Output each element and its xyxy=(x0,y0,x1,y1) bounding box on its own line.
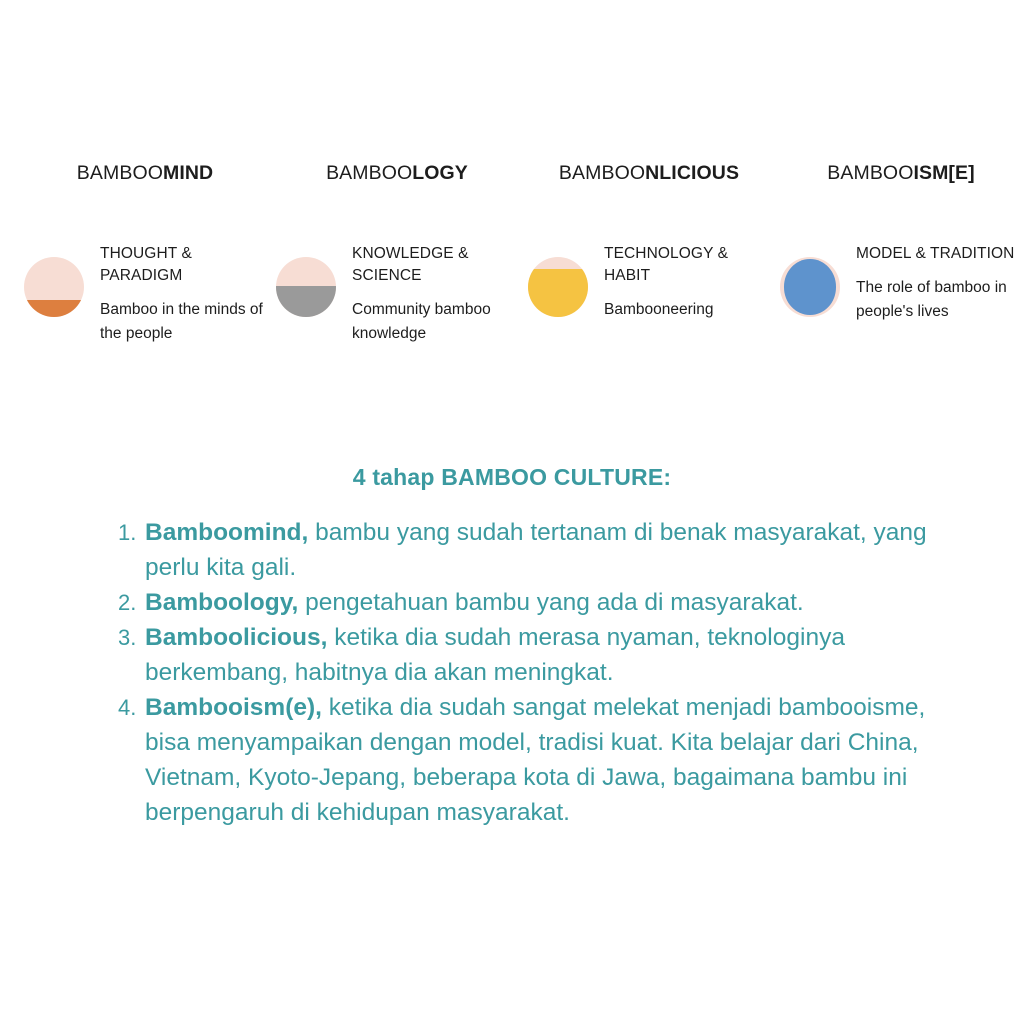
list-item: 3.Bamboolicious, ketika dia sudah merasa… xyxy=(118,620,938,690)
stage-text-bamboomind: THOUGHT & PARADIGM Bamboo in the minds o… xyxy=(100,243,268,345)
stage-title-prefix: BAMBOO xyxy=(326,162,412,184)
stage-body-bamboomind: THOUGHT & PARADIGM Bamboo in the minds o… xyxy=(24,243,274,345)
dial-fill-icon xyxy=(24,257,84,317)
stage-heading: KNOWLEDGE & SCIENCE xyxy=(352,243,520,287)
dial-fill-icon xyxy=(780,257,840,317)
list-item-term: Bamboomind, xyxy=(145,519,308,546)
list-item: 2.Bamboology, pengetahuan bambu yang ada… xyxy=(118,585,938,620)
stage-text-bamboonlicious: TECHNOLOGY & HABIT Bambooneering xyxy=(604,243,772,322)
list-item-term: Bamboolicious, xyxy=(145,624,327,651)
stage-body-bamboology: KNOWLEDGE & SCIENCE Community bamboo kno… xyxy=(276,243,526,345)
dial-fill-icon xyxy=(276,257,336,317)
stage-column-bamboology: BAMBOOLOGY KNOWLEDGE & SCIENCE Community… xyxy=(276,160,526,186)
stage-text-bamboology: KNOWLEDGE & SCIENCE Community bamboo kno… xyxy=(352,243,520,345)
stage-title-suffix: ISM[E] xyxy=(913,162,974,184)
dial-fill-level xyxy=(528,269,588,317)
stage-column-bamboonlicious: BAMBOONLICIOUS TECHNOLOGY & HABIT Bamboo… xyxy=(528,160,778,186)
dial-fill-level xyxy=(784,259,836,314)
stage-text-bambooisme: MODEL & TRADITION The role of bamboo in … xyxy=(856,243,1024,323)
stage-title-bambooisme: BAMBOOISM[E] xyxy=(772,160,1024,186)
list-marker: 2. xyxy=(118,585,142,620)
stage-title-suffix: LOGY xyxy=(412,162,468,184)
bamboo-culture-section: 4 tahap BAMBOO CULTURE: 1.Bamboomind, ba… xyxy=(0,462,1024,830)
stage-description: Bambooneering xyxy=(604,298,772,322)
culture-heading: 4 tahap BAMBOO CULTURE: xyxy=(0,462,1024,492)
stage-title-bamboomind: BAMBOOMIND xyxy=(16,160,274,186)
stage-title-bamboology: BAMBOOLOGY xyxy=(268,160,526,186)
list-marker: 4. xyxy=(118,690,142,725)
dial-fill-icon xyxy=(528,257,588,317)
list-item: 4.Bambooism(e), ketika dia sudah sangat … xyxy=(118,690,938,830)
stage-heading: TECHNOLOGY & HABIT xyxy=(604,243,772,287)
stage-title-prefix: BAMBOO xyxy=(559,162,645,184)
stage-title-prefix: BAMBOO xyxy=(827,162,913,184)
stage-body-bamboonlicious: TECHNOLOGY & HABIT Bambooneering xyxy=(528,243,778,322)
stage-title-bamboonlicious: BAMBOONLICIOUS xyxy=(520,160,778,186)
stage-heading: MODEL & TRADITION xyxy=(856,243,1024,265)
stage-description: The role of bamboo in people's lives xyxy=(856,276,1024,323)
stage-title-suffix: NLICIOUS xyxy=(645,162,739,184)
dial-fill-level xyxy=(276,286,336,317)
list-item: 1.Bamboomind, bambu yang sudah tertanam … xyxy=(118,515,938,585)
list-marker: 1. xyxy=(118,515,142,550)
stage-title-suffix: MIND xyxy=(163,162,213,184)
stage-title-prefix: BAMBOO xyxy=(77,162,163,184)
dial-fill-level xyxy=(24,300,84,317)
stage-description: Community bamboo knowledge xyxy=(352,298,520,345)
list-marker: 3. xyxy=(118,620,142,655)
stage-column-bambooisme: BAMBOOISM[E] MODEL & TRADITION The role … xyxy=(780,160,1024,186)
list-item-term: Bambooism(e), xyxy=(145,694,322,721)
stage-body-bambooisme: MODEL & TRADITION The role of bamboo in … xyxy=(780,243,1024,323)
bamboo-stages-diagram: BAMBOOMIND THOUGHT & PARADIGM Bamboo in … xyxy=(0,160,1024,410)
list-item-body: pengetahuan bambu yang ada di masyarakat… xyxy=(298,589,803,616)
culture-stage-list: 1.Bamboomind, bambu yang sudah tertanam … xyxy=(118,515,938,830)
list-item-term: Bamboology, xyxy=(145,589,298,616)
stage-description: Bamboo in the minds of the people xyxy=(100,298,268,345)
stage-column-bamboomind: BAMBOOMIND THOUGHT & PARADIGM Bamboo in … xyxy=(24,160,274,186)
stage-heading: THOUGHT & PARADIGM xyxy=(100,243,268,287)
